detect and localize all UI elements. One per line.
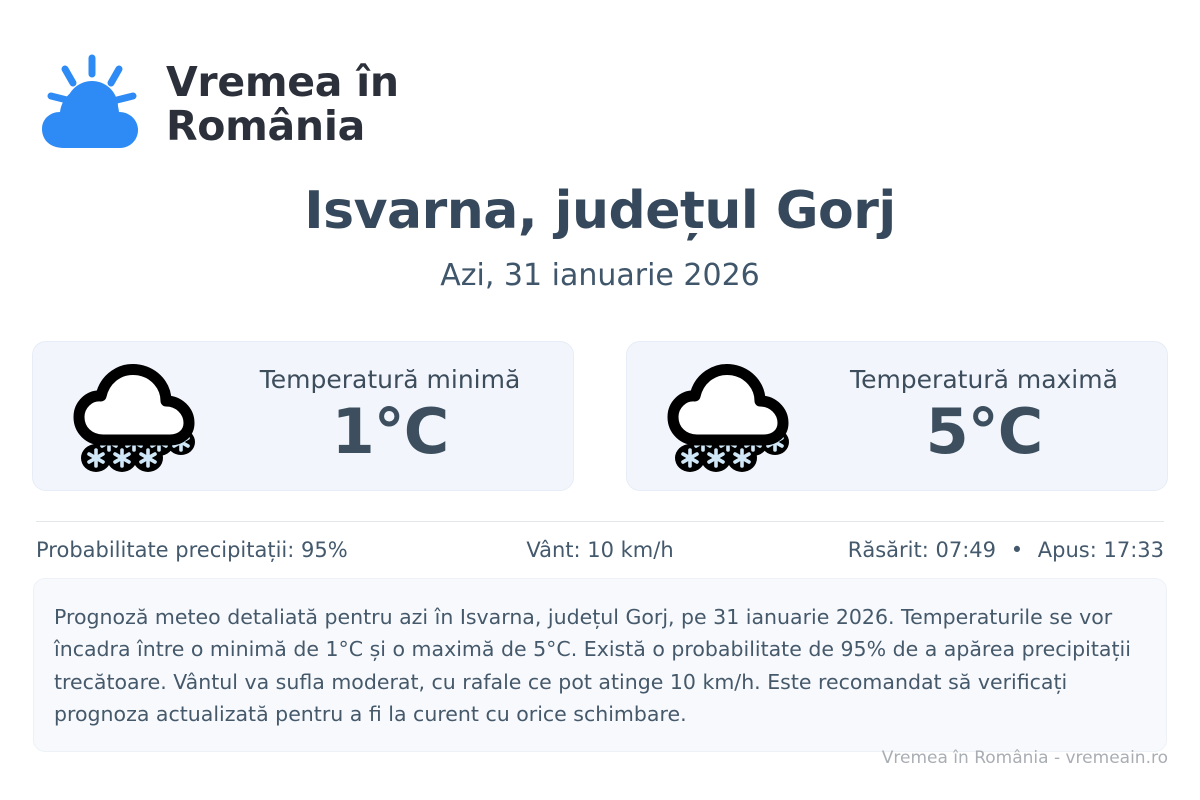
page-title: Isvarna, județul Gorj [0, 182, 1200, 240]
sunrise-value: Răsărit: 07:49 [848, 538, 996, 562]
min-temperature-text: Temperatură minimă 1°C [229, 365, 551, 466]
sun-times-stat: Răsărit: 07:49 • Apus: 17:33 [788, 538, 1164, 562]
precipitation-stat: Probabilitate precipitații: 95% [36, 538, 412, 562]
temperature-cards: Temperatură minimă 1°C [32, 341, 1168, 491]
weather-page: Vremea în România Isvarna, județul Gorj … [0, 0, 1200, 800]
min-temperature-card: Temperatură minimă 1°C [32, 341, 574, 491]
min-temperature-value: 1°C [332, 397, 449, 466]
max-temperature-card: Temperatură maximă 5°C [626, 341, 1168, 491]
sun-behind-cloud-icon [36, 52, 146, 156]
snow-cloud-icon [661, 358, 797, 474]
section-divider [36, 521, 1164, 522]
min-temperature-label: Temperatură minimă [260, 365, 521, 395]
brand-header[interactable]: Vremea în România [36, 52, 399, 156]
brand-name: Vremea în România [166, 60, 399, 149]
forecast-description-text: Prognoză meteo detaliată pentru azi în I… [54, 601, 1140, 731]
stat-separator: • [1003, 538, 1031, 562]
sunset-value: Apus: 17:33 [1038, 538, 1164, 562]
max-temperature-text: Temperatură maximă 5°C [823, 365, 1145, 466]
wind-stat: Vânt: 10 km/h [412, 538, 788, 562]
title-block: Isvarna, județul Gorj Azi, 31 ianuarie 2… [0, 182, 1200, 293]
weather-stats-row: Probabilitate precipitații: 95% Vânt: 10… [36, 538, 1164, 562]
page-subtitle: Azi, 31 ianuarie 2026 [0, 258, 1200, 293]
footer-credit: Vremea în România - vremeain.ro [0, 748, 1168, 768]
max-temperature-label: Temperatură maximă [850, 365, 1118, 395]
max-temperature-value: 5°C [926, 397, 1043, 466]
snow-cloud-icon [67, 358, 203, 474]
forecast-description-panel: Prognoză meteo detaliată pentru azi în I… [33, 578, 1167, 752]
